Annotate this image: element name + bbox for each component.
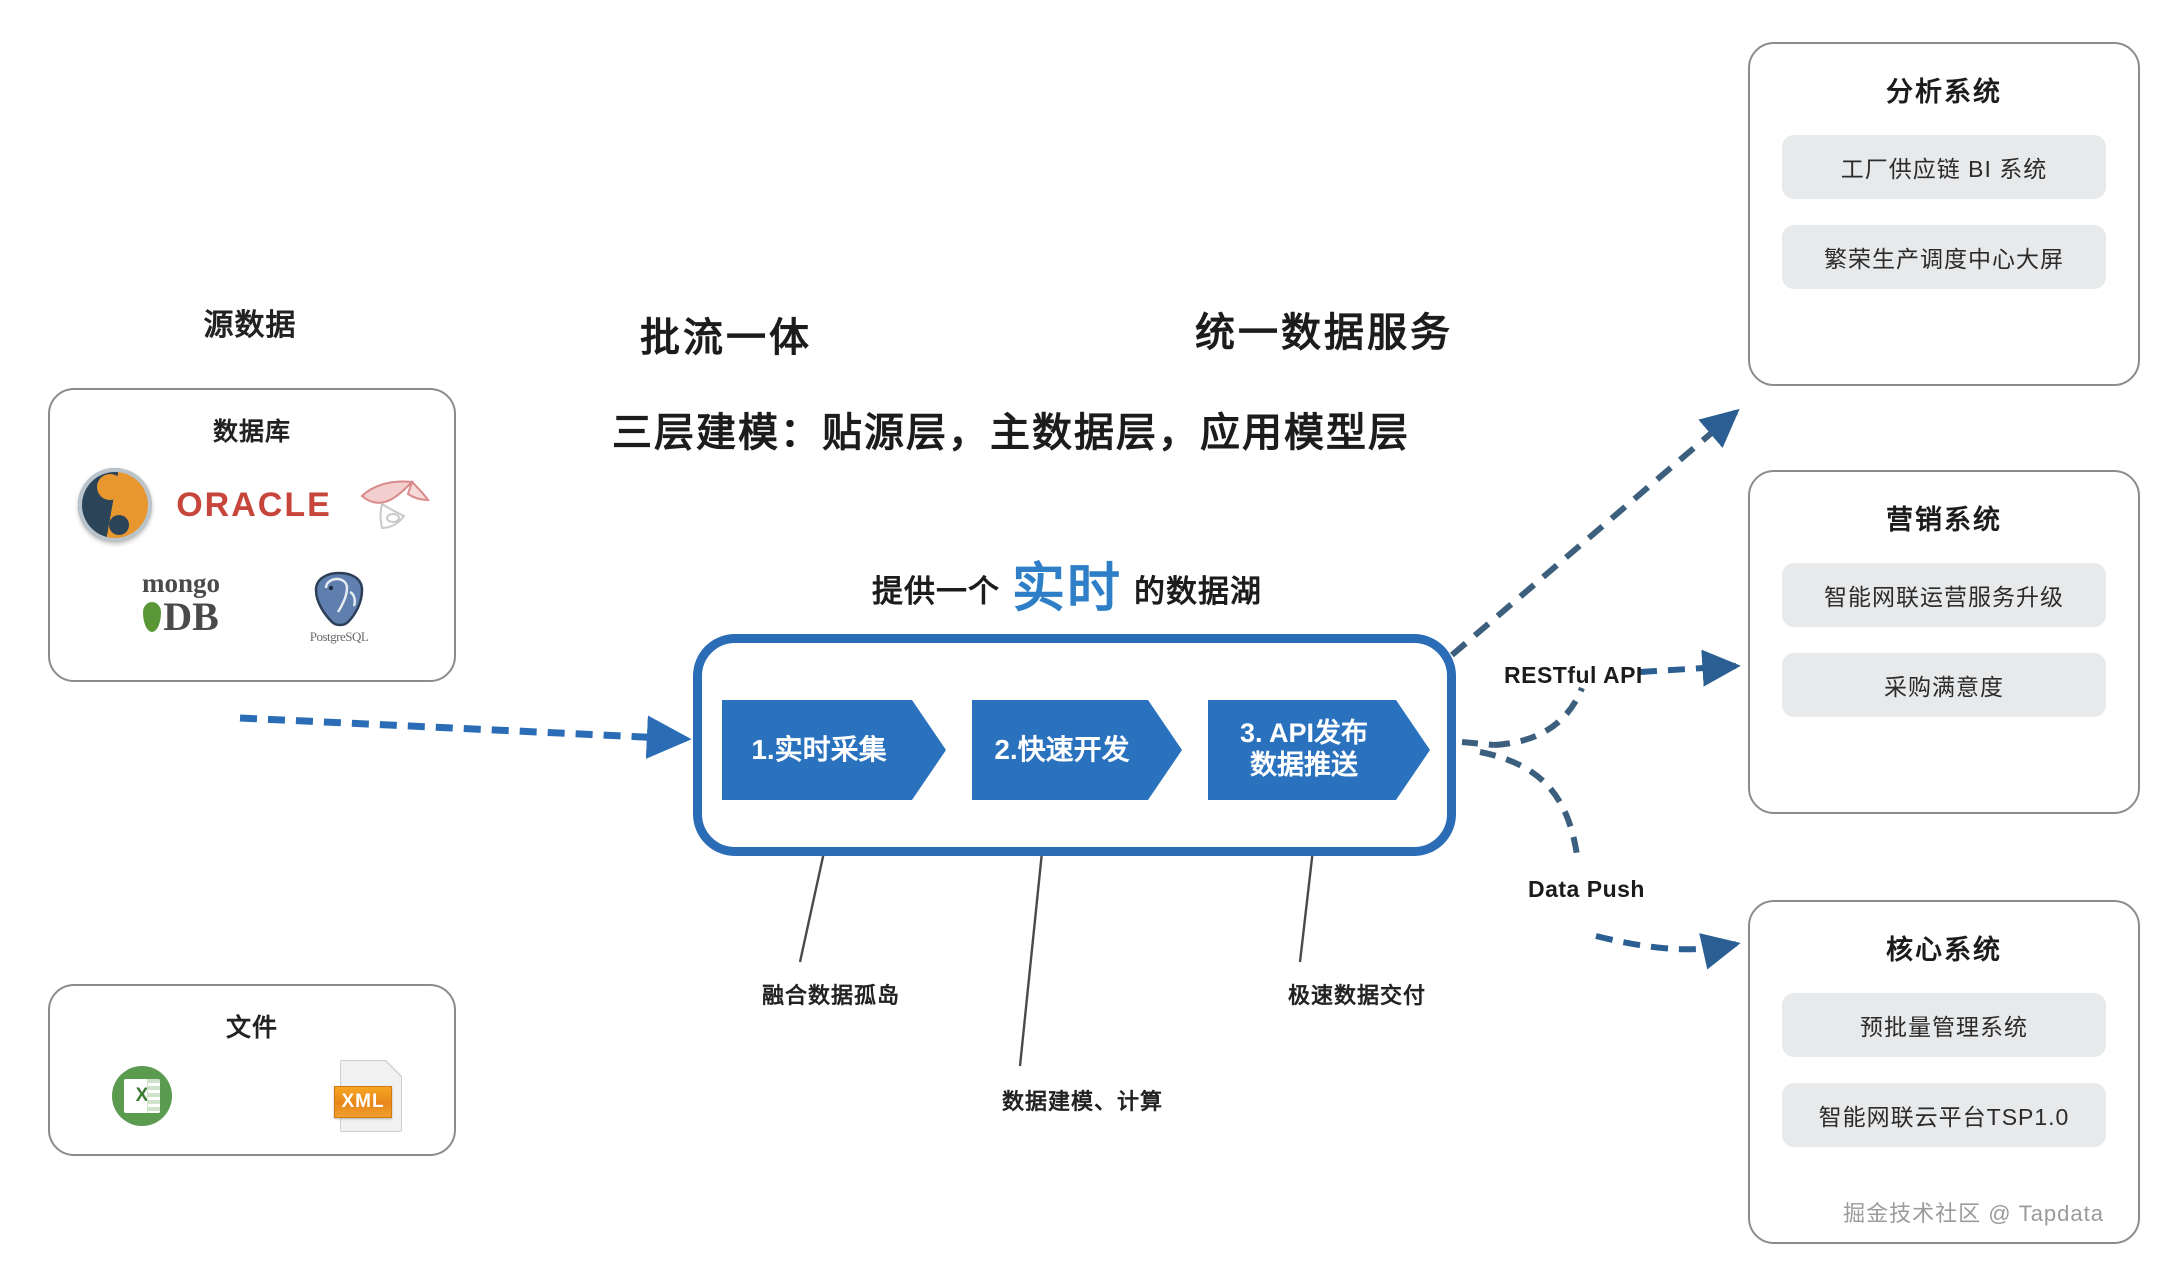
label-restful-api: RESTful API [1504,662,1643,689]
mongodb-leaf-icon [143,602,161,632]
mysql-logo [356,474,430,536]
target-panel-marketing[interactable]: 营销系统 智能网联运营服务升级 采购满意度 [1748,470,2140,814]
pipeline-step-2-label: 2.快速开发 [994,733,1129,766]
source-group-title: 源数据 [120,300,380,344]
target-panel-analysis-title: 分析系统 [1750,70,2138,109]
pipeline-step-1-label: 1.实时采集 [751,733,886,766]
pipeline-step-1[interactable]: 1.实时采集 [722,700,946,800]
target-item-analysis-0[interactable]: 工厂供应链 BI 系统 [1782,135,2106,199]
label-data-push: Data Push [1528,876,1645,903]
arrow-lake-to-analysis [1452,412,1736,655]
target-item-marketing-1[interactable]: 采购满意度 [1782,653,2106,717]
target-item-core-1[interactable]: 智能网联云平台TSP1.0 [1782,1083,2106,1147]
pipeline-step-3[interactable]: 3. API发布 数据推送 [1208,700,1430,800]
file-icon-row: X XML [112,1060,402,1132]
headline-three-layer-model: 三层建模：贴源层，主数据层，应用模型层 [612,400,1410,458]
connector-fork-stem [1462,742,1494,745]
target-panel-core-title: 核心系统 [1750,928,2138,967]
connector-fork-upper [1494,688,1582,745]
database-box-title: 数据库 [50,412,454,448]
target-item-core-0[interactable]: 预批量管理系统 [1782,993,2106,1057]
xml-file-icon: XML [340,1060,402,1132]
pipeline-step-3-label-line1: 3. API发布 [1240,718,1368,750]
arrow-datapush-to-core [1596,936,1736,949]
tagline-suffix: 的数据湖 [1134,566,1262,611]
pipeline-step-2[interactable]: 2.快速开发 [972,700,1182,800]
database-logo-row-2: mongo DB PostgreSQL [142,570,374,644]
target-item-marketing-0[interactable]: 智能网联运营服务升级 [1782,563,2106,627]
arrow-source-to-lake [240,718,686,739]
caption-merge-silos: 融合数据孤岛 [762,978,900,1010]
postgresql-logo: PostgreSQL [304,570,374,644]
oracle-logo: ORACLE [176,486,332,525]
tagline-prefix: 提供一个 [872,566,1000,611]
target-panel-marketing-title: 营销系统 [1750,498,2138,537]
target-panel-core[interactable]: 核心系统 预批量管理系统 智能网联云平台TSP1.0 掘金技术社区 @ Tapd… [1748,900,2140,1244]
mongodb-logo: mongo DB [142,570,220,637]
excel-file-icon: X [112,1066,172,1126]
watermark-text: 掘金技术社区 @ Tapdata [1843,1196,2104,1228]
caption-modeling-compute: 数据建模、计算 [1002,1084,1163,1116]
connector-fork-lower [1480,752,1578,862]
database-logo-row-1: ORACLE [78,468,430,542]
data-lake-tagline: 提供一个 实时 的数据湖 [872,558,1262,611]
headline-unified-service: 统一数据服务 [1195,300,1453,358]
diagram-canvas: 源数据 数据库 ORACLE mongo DB [0,0,2160,1282]
file-box-title: 文件 [50,1008,454,1044]
leader-line-2 [1020,852,1042,1066]
sqlserver-logo [78,468,152,542]
database-source-box[interactable]: 数据库 ORACLE mongo DB [48,388,456,682]
target-item-analysis-1[interactable]: 繁荣生产调度中心大屏 [1782,225,2106,289]
arrow-restfulapi-to-marketing [1640,666,1736,672]
leader-line-1 [800,852,824,962]
headline-batch-stream: 批流一体 [640,305,812,363]
pipeline-step-3-label-line2: 数据推送 [1240,750,1368,782]
file-source-box[interactable]: 文件 X XML [48,984,456,1156]
pipeline-step-row: 1.实时采集 2.快速开发 3. API发布 数据推送 [722,700,1430,800]
tagline-accent-realtime: 实时 [1012,562,1122,615]
caption-fast-delivery: 极速数据交付 [1288,978,1426,1010]
target-panel-analysis[interactable]: 分析系统 工厂供应链 BI 系统 繁荣生产调度中心大屏 [1748,42,2140,386]
